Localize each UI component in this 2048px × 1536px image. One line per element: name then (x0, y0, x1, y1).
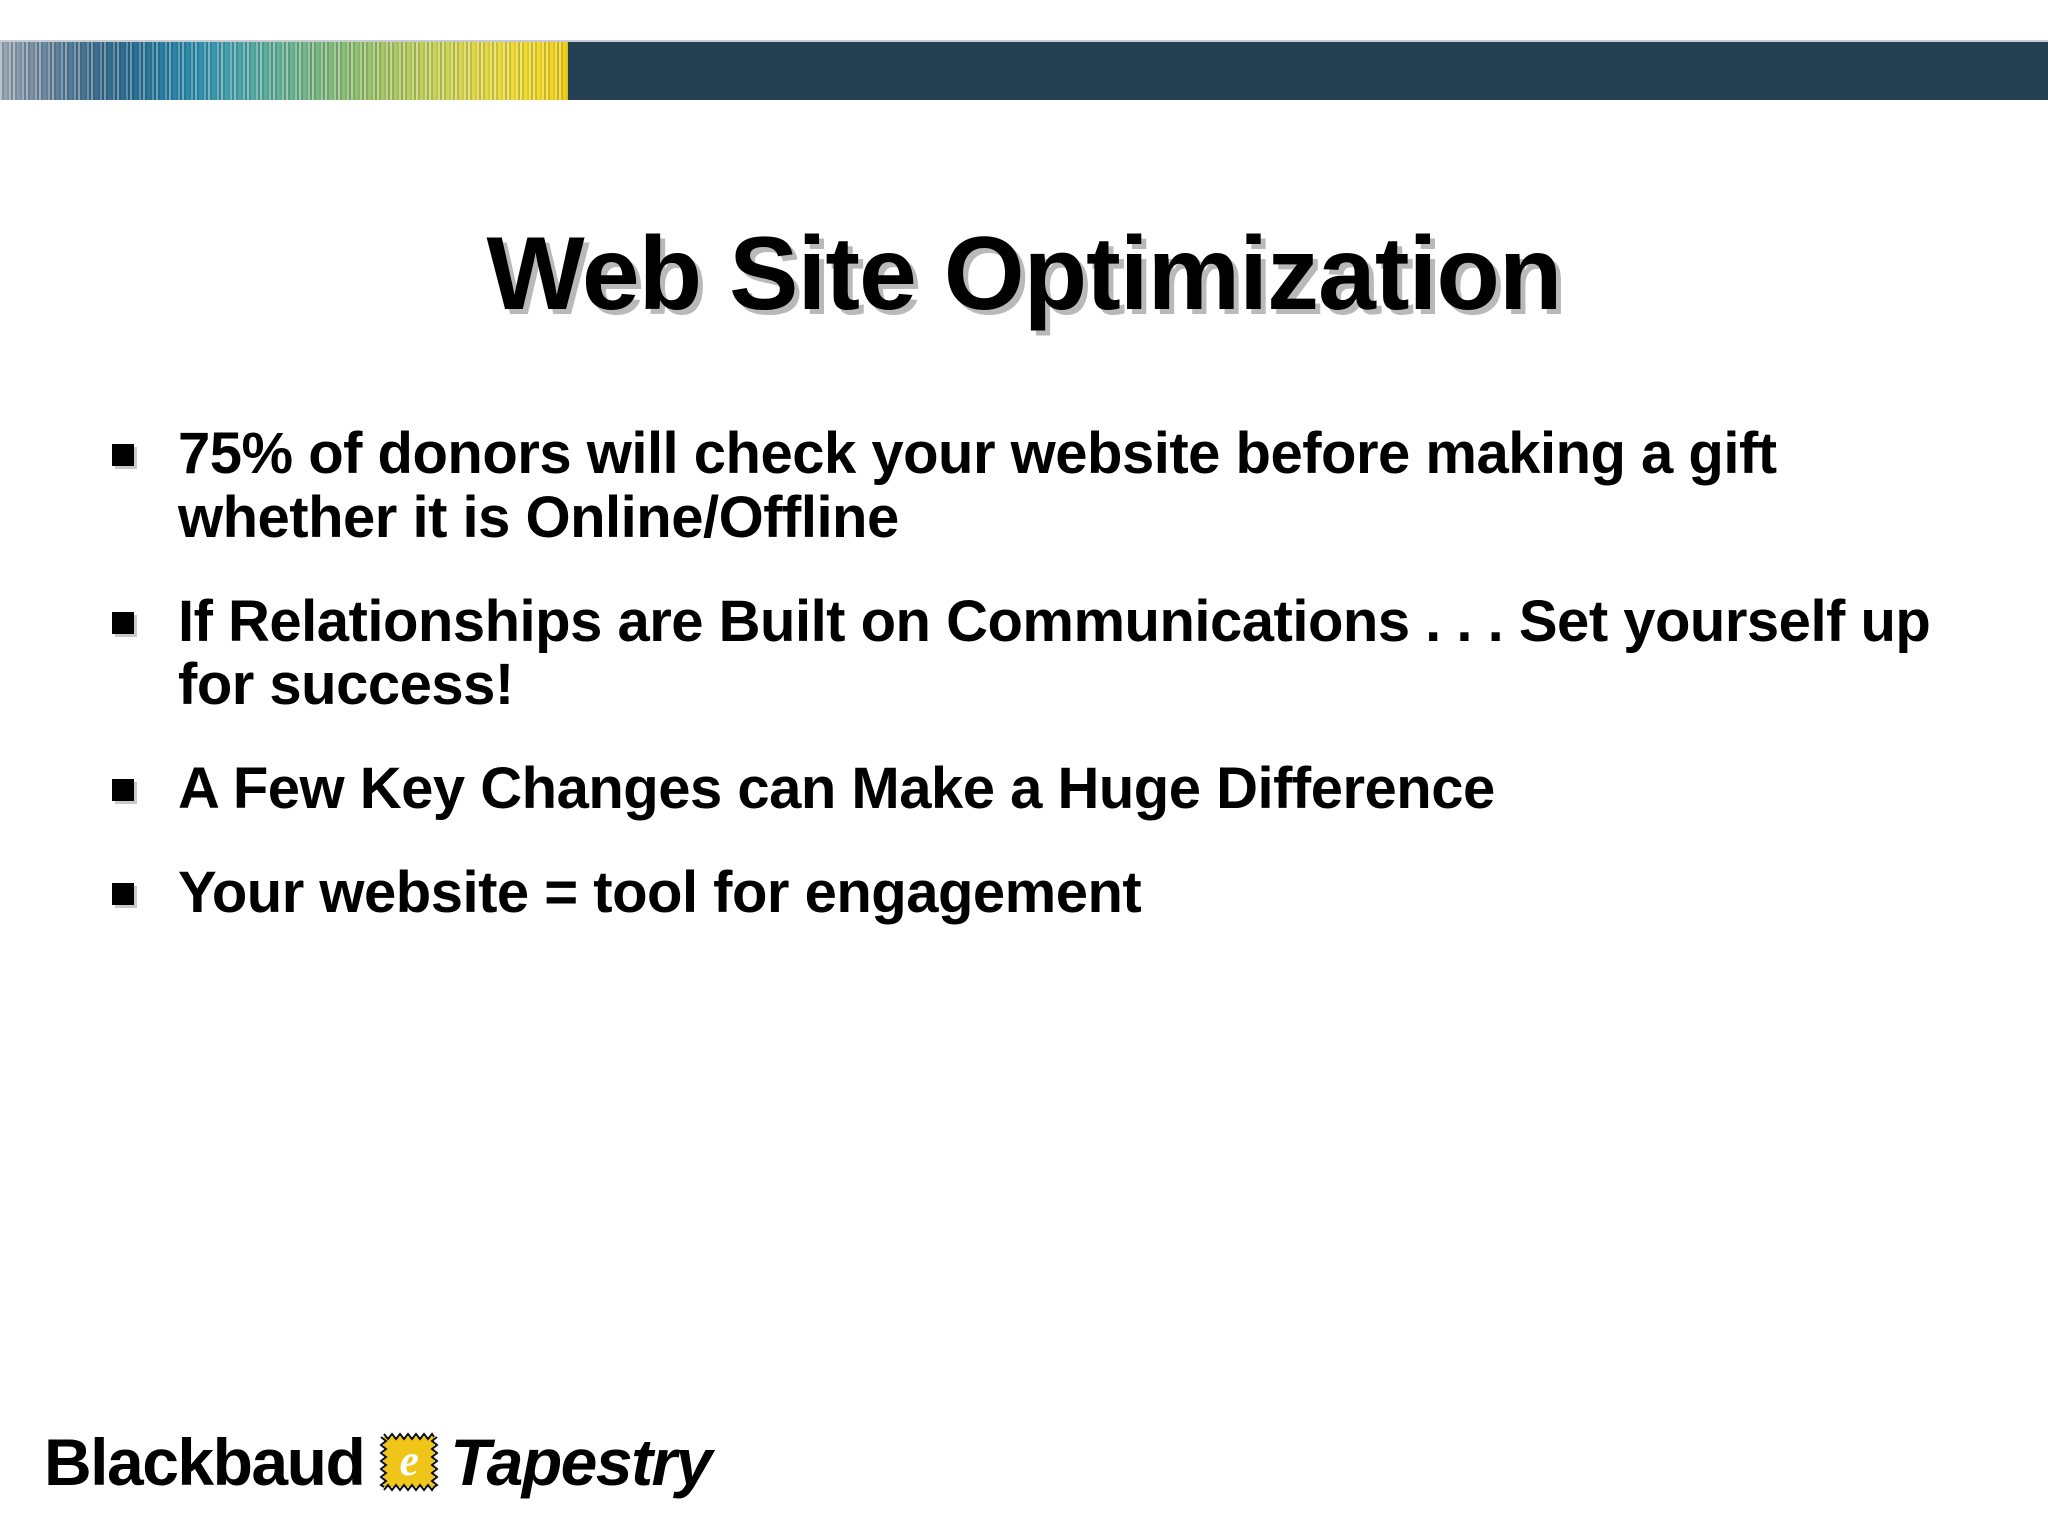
bullet-list: 75% of donors will check your website be… (112, 422, 1972, 925)
banner-gradient-stripes (0, 42, 568, 100)
logo-product-text: Tapestry (450, 1429, 711, 1495)
banner-navy-block (568, 42, 2048, 100)
etapestry-stamp-icon: e (378, 1431, 440, 1493)
list-item: A Few Key Changes can Make a Huge Differ… (112, 757, 1972, 821)
square-bullet-icon (112, 779, 134, 801)
bullet-text: A Few Key Changes can Make a Huge Differ… (178, 757, 1578, 821)
bullet-text: Your website = tool for engagement (178, 861, 1578, 925)
square-bullet-icon (112, 612, 134, 634)
square-bullet-icon (112, 883, 134, 905)
top-banner (0, 42, 2048, 100)
page-title: Web Site Optimization (0, 220, 2048, 329)
logo-brand-text: Blackbaud (44, 1429, 364, 1495)
square-bullet-icon (112, 444, 134, 466)
bullet-text: If Relationships are Built on Communicat… (178, 590, 1938, 718)
list-item: Your website = tool for engagement (112, 861, 1972, 925)
bullet-text: 75% of donors will check your website be… (178, 422, 1938, 550)
blackbaud-etapestry-logo: Blackbaud e Tapestry (44, 1416, 711, 1508)
logo-badge-letter: e (400, 1439, 420, 1483)
list-item: 75% of donors will check your website be… (112, 422, 1972, 550)
list-item: If Relationships are Built on Communicat… (112, 590, 1972, 718)
